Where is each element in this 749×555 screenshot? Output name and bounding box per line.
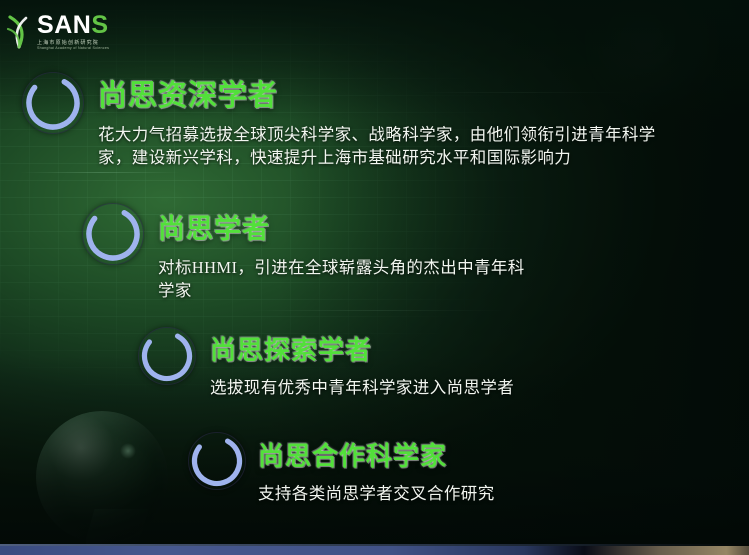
logo-wordmark: SANS — [37, 13, 109, 38]
scholar-title-4: 尚思合作科学家 — [258, 436, 678, 473]
logo-letter-n: N — [73, 11, 92, 39]
bullet-ring-1 — [22, 72, 84, 134]
logo-text-block: SANS 上海市原始创新研究院 Shanghai Academy of Natu… — [37, 13, 109, 51]
scholar-item-4: 尚思合作科学家 支持各类尚思学者交叉合作研究 — [258, 436, 678, 505]
logo-letter-a: A — [54, 11, 73, 39]
scholar-title-2: 尚思学者 — [158, 207, 578, 246]
logo-letter-s1: S — [37, 11, 54, 39]
sans-logo: SANS 上海市原始创新研究院 Shanghai Academy of Natu… — [6, 8, 132, 56]
sans-leaf-mark-icon — [6, 15, 32, 49]
logo-letter-s2: S — [91, 11, 108, 39]
open-circle-ring-icon — [138, 327, 196, 385]
scholar-body-1: 花大力气招募选拔全球顶尖科学家、战略科学家，由他们领衔引进青年科学家，建设新兴学… — [98, 123, 688, 170]
scholar-item-3: 尚思探索学者 选拔现有优秀中青年科学家进入尚思学者 — [210, 330, 640, 399]
bottom-film-strip — [0, 546, 749, 555]
bullet-ring-4 — [188, 432, 246, 490]
scholar-body-2: 对标HHMI，引进在全球崭露头角的杰出中青年科学家 — [158, 256, 540, 303]
logo-english-name: Shanghai Academy of Natural Sciences — [37, 47, 109, 51]
scholar-title-1: 尚思资深学者 — [98, 72, 708, 114]
scholar-item-2: 尚思学者 对标HHMI，引进在全球崭露头角的杰出中青年科学家 — [158, 207, 578, 303]
scholar-body-3: 选拔现有优秀中青年科学家进入尚思学者 — [210, 376, 640, 399]
scholar-body-4: 支持各类尚思学者交叉合作研究 — [258, 482, 678, 505]
presentation-slide: SANS 上海市原始创新研究院 Shanghai Academy of Natu… — [0, 0, 749, 555]
logo-chinese-name: 上海市原始创新研究院 — [37, 41, 109, 46]
bullet-ring-2 — [82, 203, 144, 265]
open-circle-ring-icon — [82, 203, 144, 265]
scholar-item-1: 尚思资深学者 花大力气招募选拔全球顶尖科学家、战略科学家，由他们领衔引进青年科学… — [98, 72, 708, 170]
bullet-ring-3 — [138, 327, 196, 385]
open-circle-ring-icon — [188, 432, 246, 490]
open-circle-ring-icon — [22, 72, 84, 134]
scholar-title-3: 尚思探索学者 — [210, 330, 640, 367]
